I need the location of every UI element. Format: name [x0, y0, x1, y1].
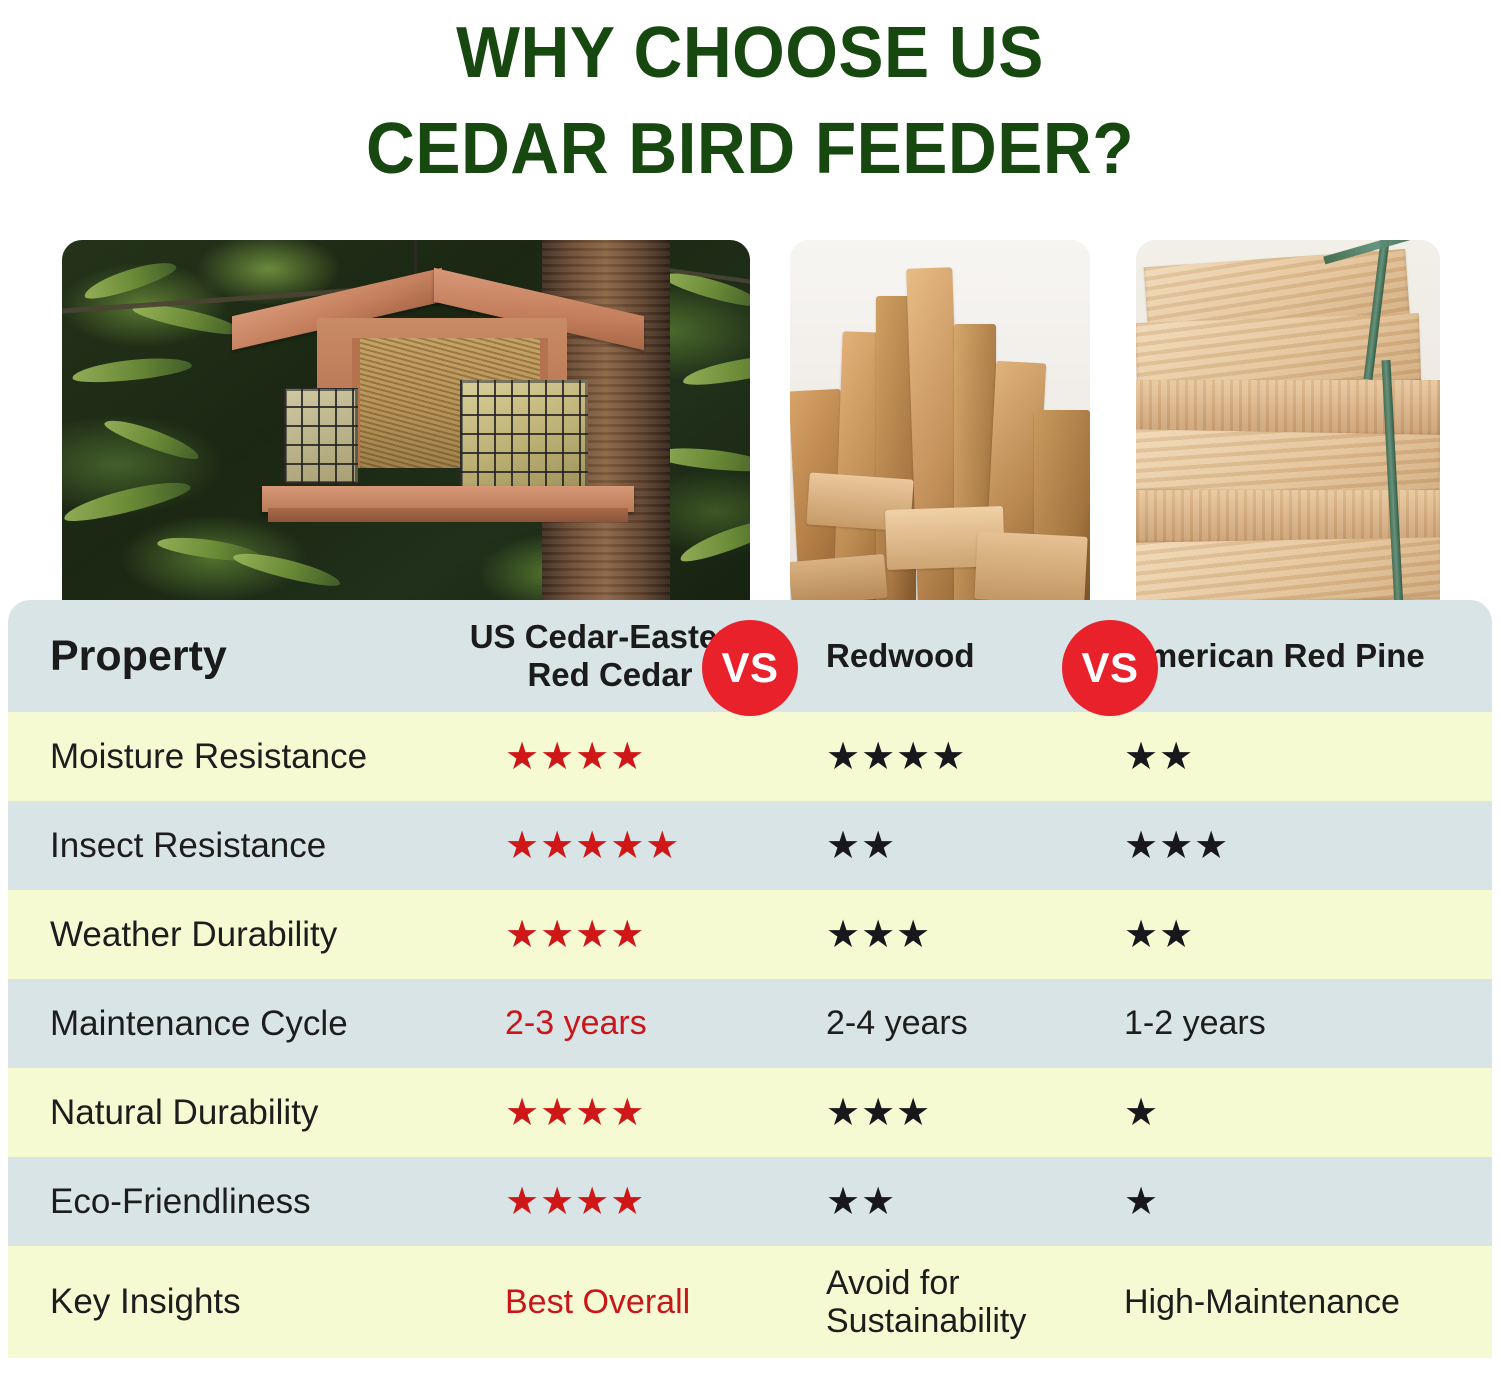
cell-redwood: Avoid for Sustainability: [798, 1264, 1098, 1340]
star-rating-american-red-pine: ★★★: [1124, 825, 1229, 867]
property-text: Key Insights: [50, 1282, 241, 1321]
cell-us-cedar: ★★★★: [438, 1183, 798, 1221]
vs-badge-2: VS: [1062, 620, 1158, 716]
suet-cage-right: [460, 380, 588, 492]
header-label-american-red-pine: American Red Pine: [1124, 637, 1425, 674]
american-red-pine-lumber-photo: [1136, 240, 1440, 602]
lumber-board: [1136, 380, 1440, 436]
star-rating-us-cedar: ★★★★★: [505, 825, 680, 867]
table-row: Weather Durability ★★★★ ★★★ ★★: [8, 890, 1492, 979]
star-rating-us-cedar: ★★★★: [505, 736, 645, 778]
star-rating-american-red-pine: ★★: [1124, 914, 1194, 956]
row-property-label: Eco-Friendliness: [8, 1182, 438, 1222]
value-american-red-pine: 1-2 years: [1124, 1004, 1266, 1042]
table-row: Eco-Friendliness ★★★★ ★★ ★: [8, 1157, 1492, 1246]
redwood-log-end: [974, 531, 1087, 602]
comparison-image-strip: VS VS: [0, 240, 1500, 602]
property-text: Maintenance Cycle: [50, 1004, 348, 1043]
value-redwood: 2-4 years: [826, 1004, 968, 1042]
value-redwood-line-1: Avoid for: [826, 1264, 1098, 1302]
property-text: Moisture Resistance: [50, 737, 367, 776]
star-rating-american-red-pine: ★: [1124, 1092, 1159, 1134]
suet-cage-left: [284, 388, 358, 484]
cell-american-red-pine: High-Maintenance: [1098, 1283, 1492, 1321]
row-property-label: Natural Durability: [8, 1093, 438, 1133]
table-row: Moisture Resistance ★★★★ ★★★★ ★★: [8, 712, 1492, 801]
value-redwood-line-2: Sustainability: [826, 1302, 1098, 1340]
star-rating-redwood: ★★★★: [826, 736, 966, 778]
cell-redwood: ★★: [798, 827, 1098, 865]
star-rating-us-cedar: ★★★★: [505, 914, 645, 956]
header-label-property: Property: [50, 632, 227, 680]
page-title-line-1: WHY CHOOSE US: [45, 6, 1455, 102]
star-rating-us-cedar: ★★★★: [505, 1181, 645, 1223]
cell-redwood: ★★★: [798, 1094, 1098, 1132]
header-cell-redwood: Redwood: [798, 637, 1098, 675]
header-cell-property: Property: [8, 632, 438, 681]
value-us-cedar: Best Overall: [505, 1283, 690, 1321]
cell-us-cedar: Best Overall: [438, 1283, 798, 1321]
star-rating-redwood: ★★★: [826, 1092, 931, 1134]
cell-us-cedar: ★★★★: [438, 738, 798, 776]
header-label-redwood: Redwood: [826, 637, 974, 674]
cell-us-cedar: ★★★★★: [438, 827, 798, 865]
property-text: Eco-Friendliness: [50, 1182, 311, 1221]
cell-american-red-pine: ★★★: [1098, 827, 1492, 865]
star-rating-us-cedar: ★★★★: [505, 1092, 645, 1134]
property-text: Weather Durability: [50, 915, 337, 954]
cell-redwood: ★★★★: [798, 738, 1098, 776]
page-title: WHY CHOOSE US CEDAR BIRD FEEDER?: [0, 0, 1500, 198]
row-property-label: Moisture Resistance: [8, 737, 438, 777]
row-property-label: Insect Resistance: [8, 826, 438, 866]
redwood-logs-photo: [790, 240, 1090, 602]
cell-redwood: 2-4 years: [798, 1004, 1098, 1042]
table-row: Maintenance Cycle 2-3 years 2-4 years 1-…: [8, 979, 1492, 1068]
star-rating-redwood: ★★: [826, 1181, 896, 1223]
star-rating-redwood: ★★★: [826, 914, 931, 956]
star-rating-redwood: ★★: [826, 825, 896, 867]
cage-mesh: [460, 380, 588, 492]
row-property-label: Weather Durability: [8, 915, 438, 955]
cedar-bird-feeder-photo: [62, 240, 750, 602]
value-us-cedar: 2-3 years: [505, 1004, 647, 1042]
value-american-red-pine: High-Maintenance: [1124, 1283, 1400, 1321]
cell-us-cedar: ★★★★: [438, 916, 798, 954]
row-property-label: Key Insights: [8, 1282, 438, 1322]
cell-redwood: ★★★: [798, 916, 1098, 954]
property-text: Natural Durability: [50, 1093, 318, 1132]
cell-american-red-pine: ★: [1098, 1183, 1492, 1221]
cell-american-red-pine: ★: [1098, 1094, 1492, 1132]
star-rating-american-red-pine: ★: [1124, 1181, 1159, 1223]
star-rating-american-red-pine: ★★: [1124, 736, 1194, 778]
redwood-log-end: [790, 554, 888, 602]
table-row: Natural Durability ★★★★ ★★★ ★: [8, 1068, 1492, 1157]
feeder-tray-edge: [268, 508, 628, 522]
table-row: Key Insights Best Overall Avoid for Sust…: [8, 1246, 1492, 1358]
cell-redwood: ★★: [798, 1183, 1098, 1221]
row-property-label: Maintenance Cycle: [8, 1004, 438, 1044]
cell-american-red-pine: ★★: [1098, 738, 1492, 776]
cell-us-cedar: 2-3 years: [438, 1004, 798, 1042]
vs-badge-1: VS: [702, 620, 798, 716]
cell-american-red-pine: ★★: [1098, 916, 1492, 954]
page-title-line-2: CEDAR BIRD FEEDER?: [45, 102, 1455, 198]
cell-american-red-pine: 1-2 years: [1098, 1004, 1492, 1042]
cell-us-cedar: ★★★★: [438, 1094, 798, 1132]
table-row: Insect Resistance ★★★★★ ★★ ★★★: [8, 801, 1492, 890]
cage-mesh: [284, 388, 358, 484]
property-text: Insect Resistance: [50, 826, 326, 865]
